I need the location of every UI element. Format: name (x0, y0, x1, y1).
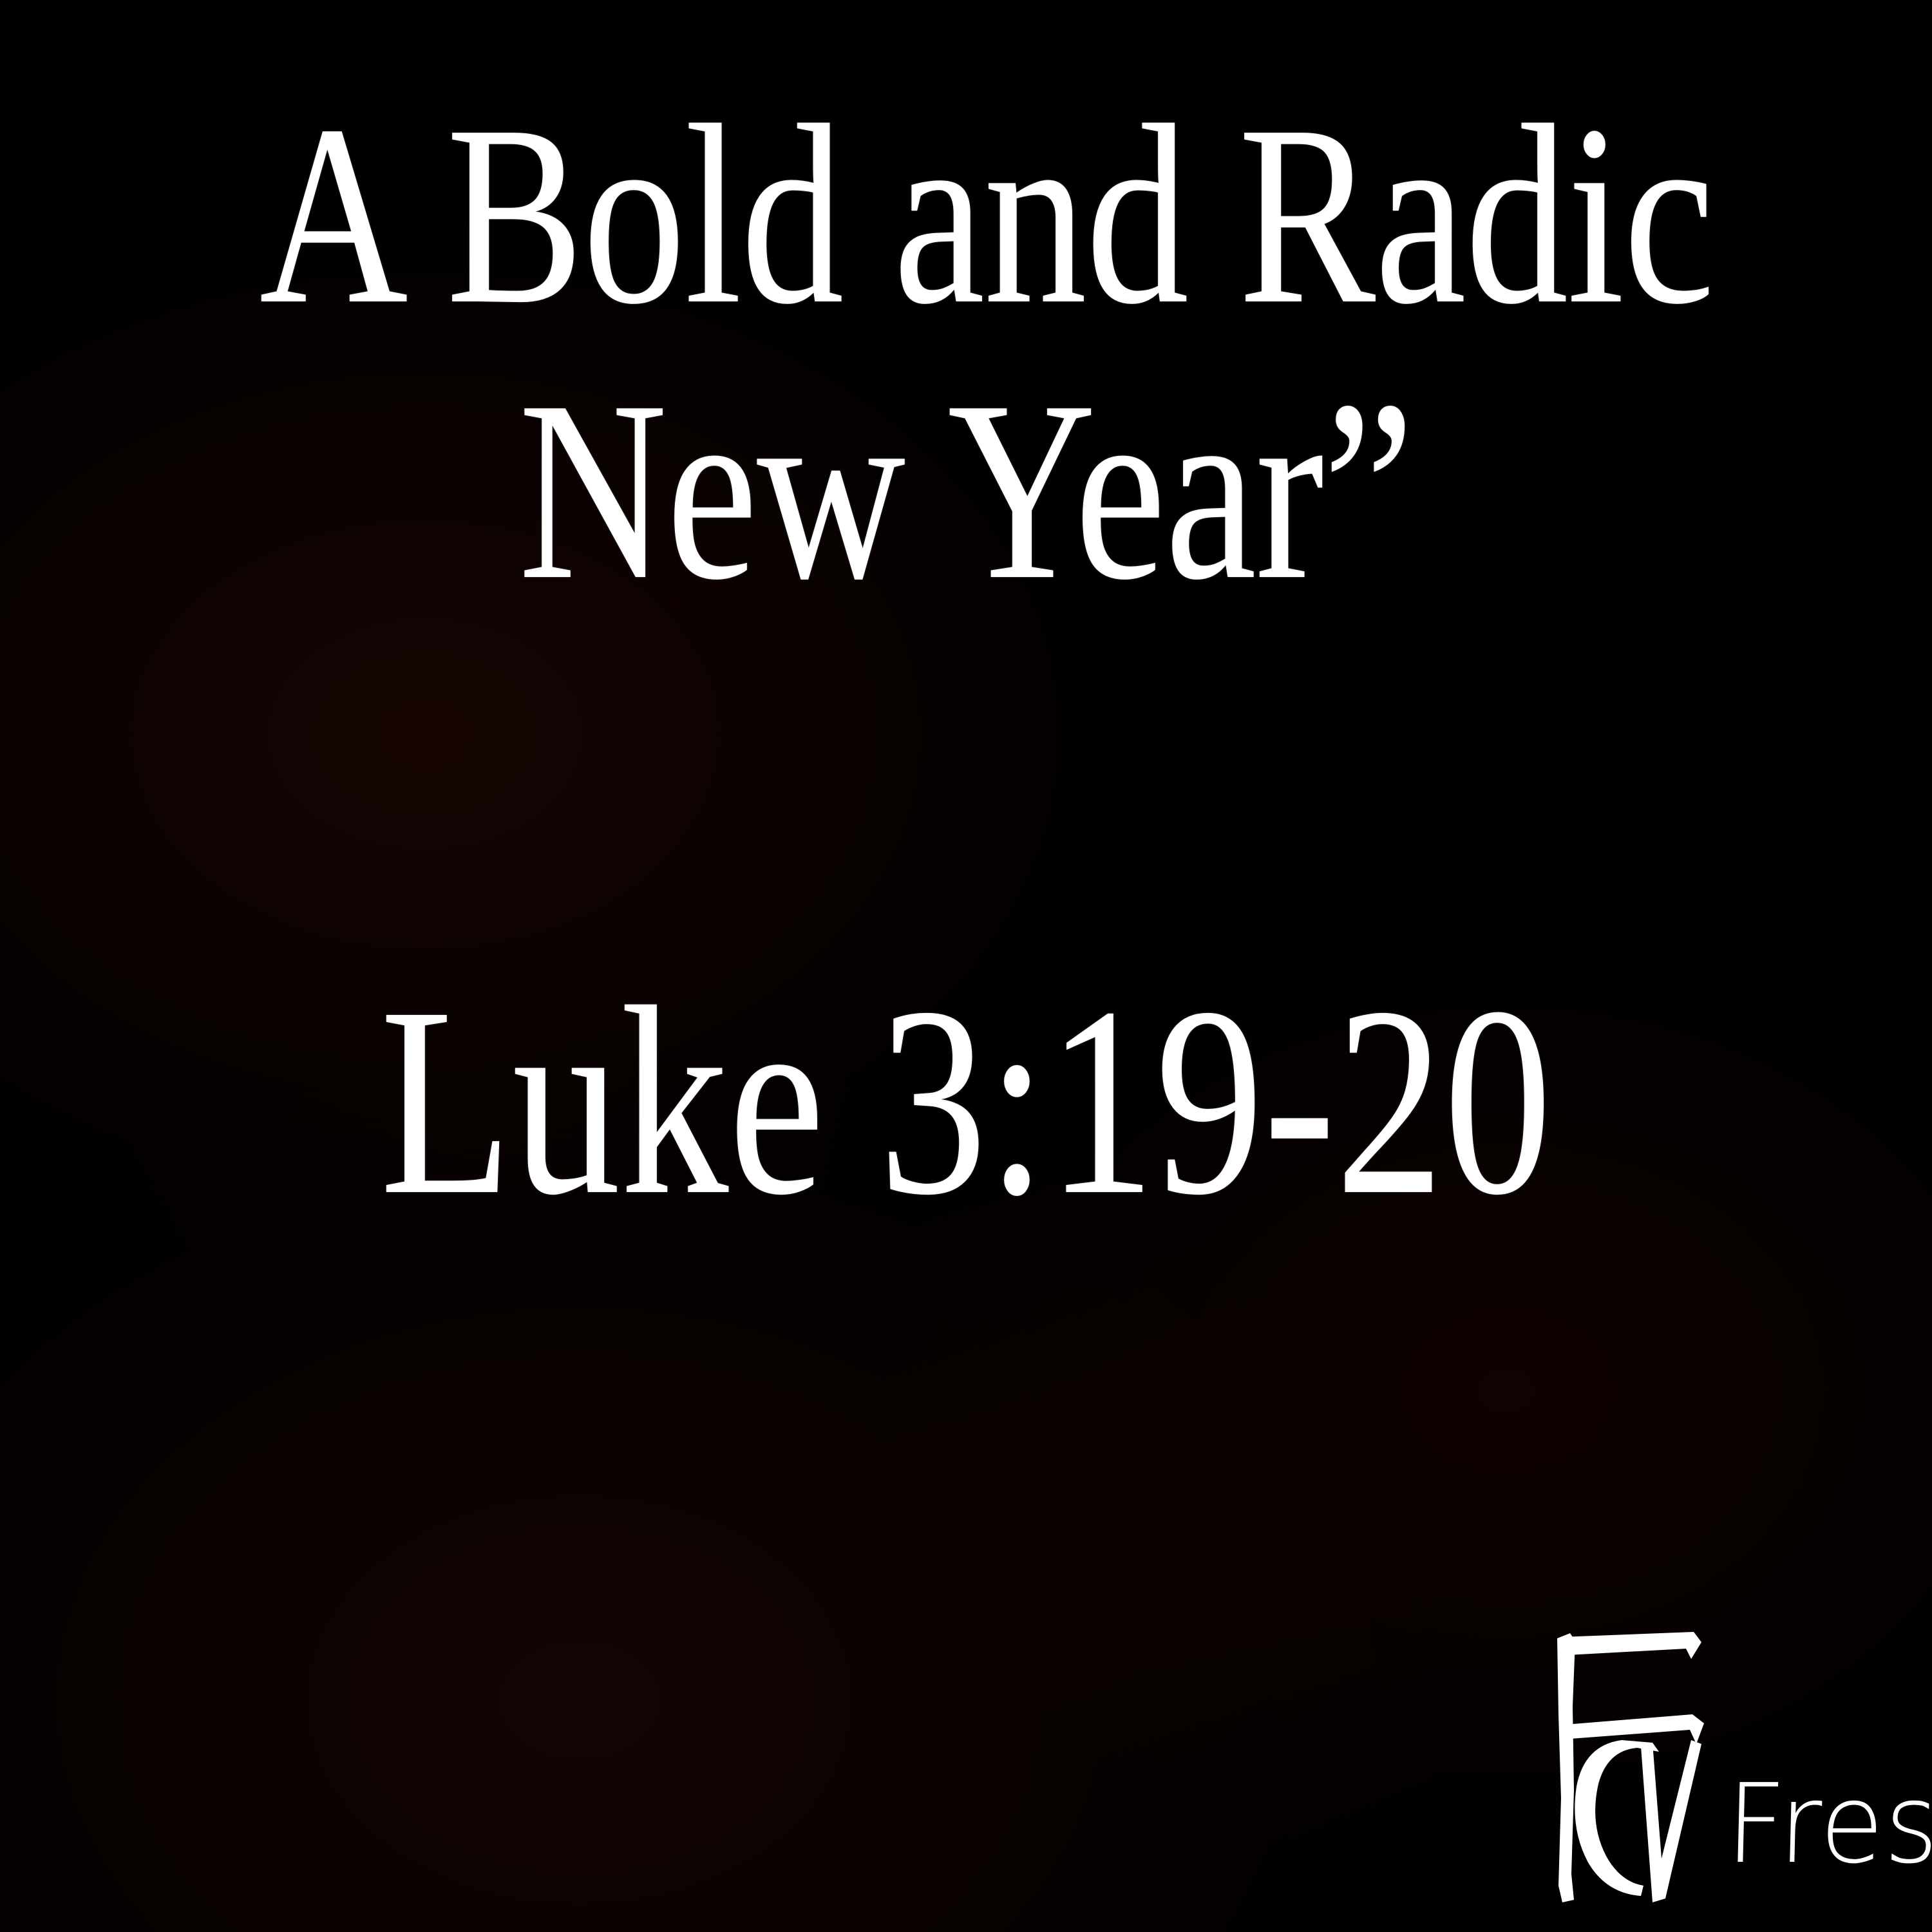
logo-wordmark: Fresh (1725, 1770, 1932, 1879)
sermon-title-line-2: New Year” (193, 353, 1739, 629)
ministry-logo: Fresh (1539, 1610, 1932, 1906)
sermon-title: A Bold and Radic New Year” (0, 77, 1932, 629)
sermon-title-line-1: A Bold and Radic (214, 77, 1759, 353)
fc-monogram-icon (1539, 1629, 1719, 1906)
scripture-reference: Luke 3:19-20 (193, 966, 1739, 1236)
sermon-title-slide: A Bold and Radic New Year” Luke 3:19-20 … (0, 0, 1932, 1932)
